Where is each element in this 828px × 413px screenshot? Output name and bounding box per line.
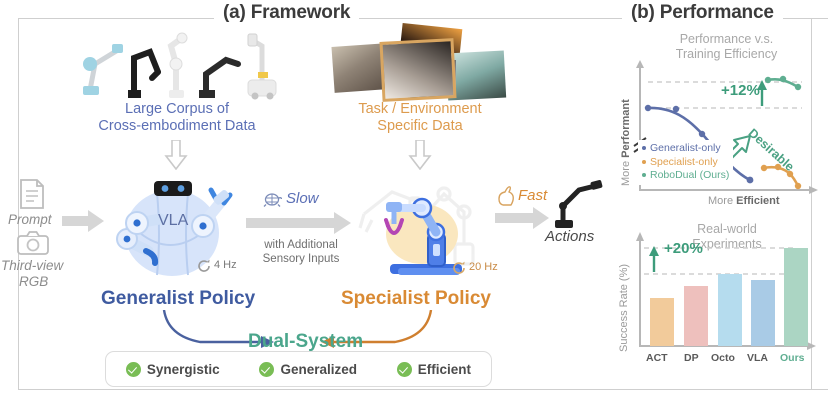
actions-label: Actions	[545, 228, 594, 245]
line-chart-title: Performance v.s. Training Efficiency	[644, 32, 809, 62]
arrow-generalist-to-specialist	[246, 212, 351, 234]
specialist-policy-title: Specialist Policy	[341, 288, 491, 310]
rabbit-icon	[496, 186, 518, 206]
line-chart-title-line1: Performance v.s.	[644, 32, 809, 47]
task-caption-line1: Task / Environment	[335, 101, 505, 118]
generalist-rate: 4 Hz	[214, 259, 237, 271]
bar-dp	[684, 286, 708, 346]
industrial-robot-icon	[551, 178, 603, 230]
attributes-pill: Synergistic Generalized Efficient	[105, 351, 492, 387]
robot-arm-collage	[72, 28, 282, 100]
bar-ours	[784, 248, 808, 346]
attribute-synergistic: Synergistic	[126, 362, 220, 377]
legend-item-robodual: RoboDual (Ours)	[642, 169, 729, 183]
legend-dot	[642, 146, 646, 150]
attribute-label: Generalized	[280, 362, 357, 377]
task-photo-center	[379, 38, 456, 102]
line-chart-xlabel: More Efficient	[708, 195, 780, 207]
bar-octo	[718, 274, 742, 346]
refresh-icon-generalist	[196, 258, 212, 274]
legend-label: RoboDual (Ours)	[650, 169, 729, 181]
bar-tick-octo: Octo	[711, 352, 735, 364]
document-icon	[17, 178, 47, 210]
bar-chart-plot	[626, 232, 818, 358]
down-arrow-task	[408, 140, 432, 170]
legend-item-specialist: Specialist-only	[642, 156, 729, 170]
sensory-inputs-note: with Additional Sensory Inputs	[255, 238, 347, 266]
bar-vla	[751, 280, 775, 346]
arrow-inputs-to-generalist	[62, 210, 104, 232]
legend-label: Specialist-only	[650, 156, 718, 168]
legend-label: Generalist-only	[650, 142, 721, 154]
legend-dot	[642, 173, 646, 177]
corpus-caption-line1: Large Corpus of	[62, 101, 292, 118]
turtle-icon	[262, 190, 282, 208]
check-circle-icon	[259, 362, 274, 377]
sensory-note-line2: Sensory Inputs	[255, 252, 347, 266]
bar-act	[650, 298, 674, 346]
attribute-efficient: Efficient	[397, 362, 471, 377]
bar-chart-annotation: +20%	[664, 240, 703, 257]
attribute-label: Synergistic	[147, 362, 220, 377]
realworld-bar-chart: Real-world Experiments Success Rate (%) …	[608, 218, 820, 388]
thirdview-label-line1: Third-view	[1, 258, 63, 273]
line-chart-legend: Generalist-only Specialist-only RoboDual…	[638, 140, 733, 185]
camera-icon	[16, 230, 50, 256]
down-arrow-corpus	[164, 140, 188, 170]
check-circle-icon	[397, 362, 412, 377]
legend-dot	[642, 160, 646, 164]
refresh-icon-specialist	[451, 260, 467, 276]
arrow-specialist-to-actions	[495, 207, 549, 229]
legend-item-generalist: Generalist-only	[642, 142, 729, 156]
attribute-generalized: Generalized	[259, 362, 357, 377]
specialist-rate: 20 Hz	[469, 261, 498, 273]
xlabel-bold: Efficient	[736, 195, 779, 207]
generalist-policy-title: Generalist Policy	[101, 288, 255, 310]
corpus-caption: Large Corpus of Cross-embodiment Data	[62, 101, 292, 135]
bar-tick-vla: VLA	[747, 352, 768, 364]
corpus-caption-line2: Cross-embodiment Data	[62, 118, 292, 135]
dual-system-label: Dual-System	[248, 331, 363, 353]
task-caption-line2: Specific Data	[335, 118, 505, 135]
prompt-label: Prompt	[8, 212, 52, 227]
check-circle-icon	[126, 362, 141, 377]
task-caption: Task / Environment Specific Data	[335, 101, 505, 135]
thirdview-label-line2: RGB	[19, 274, 48, 289]
xlabel-prefix: More	[708, 195, 736, 207]
fast-label: Fast	[518, 187, 547, 204]
bar-tick-dp: DP	[684, 352, 699, 364]
performance-line-chart: Performance v.s. Training Efficiency Mor…	[608, 30, 820, 208]
figure-root: (a) Framework (b) Performance	[0, 0, 828, 413]
panel-b-title: (b) Performance	[622, 2, 783, 24]
panel-a-title: (a) Framework	[214, 2, 359, 24]
bar-tick-act: ACT	[646, 352, 668, 364]
slow-label: Slow	[286, 190, 319, 207]
sensory-note-line1: with Additional	[255, 238, 347, 252]
vla-core-label: VLA	[158, 212, 188, 230]
bar-tick-ours: Ours	[780, 352, 805, 364]
attribute-label: Efficient	[418, 362, 471, 377]
line-chart-annotation: +12%	[721, 82, 760, 99]
